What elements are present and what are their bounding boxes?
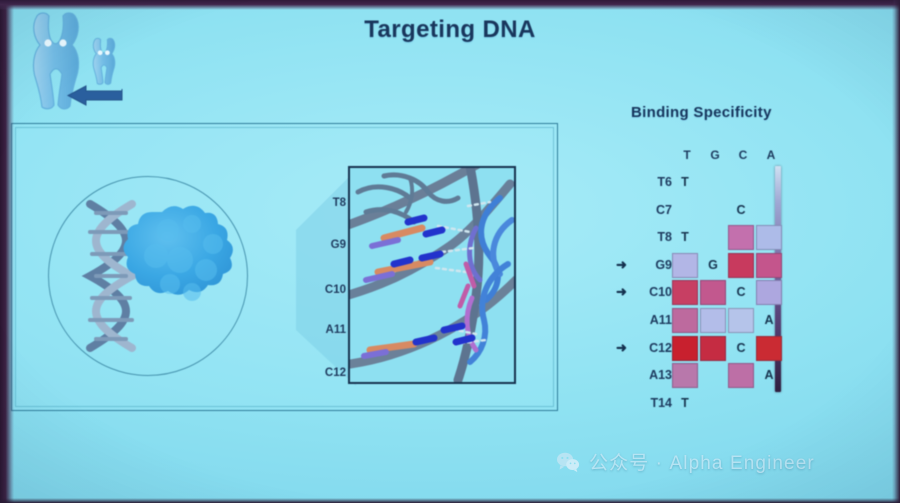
- heatmap-row-label: T8: [632, 230, 672, 244]
- heatmap-row-arrow: ➜: [616, 285, 627, 298]
- heatmap-row-label: C10: [632, 285, 672, 299]
- page-title: Targeting DNA: [0, 16, 900, 44]
- photo-edge-right: [892, 0, 900, 503]
- slide-photo: Targeting DNA: [0, 0, 900, 503]
- heatmap-row-label: A11: [632, 313, 672, 327]
- heatmap-cell: [700, 308, 726, 333]
- heatmap-row-label: A13: [632, 368, 672, 382]
- heatmap-cell: [756, 336, 782, 361]
- structure-label: T8: [333, 197, 346, 209]
- heatmap-cell: [700, 336, 726, 361]
- structure-label: G9: [331, 239, 346, 251]
- heatmap-cell: [728, 225, 754, 250]
- heatmap-col-header-c: C: [730, 148, 756, 162]
- heatmap-native-base-letter: A: [756, 308, 782, 333]
- heatmap-col-header-a: A: [758, 148, 784, 162]
- heatmap-cell: [728, 308, 754, 333]
- chromosome-small-icon: [93, 38, 115, 84]
- heatmap-cell: [672, 280, 698, 305]
- heatmap-cell: [756, 253, 782, 278]
- watermark-text: 公众号 · Alpha Engineer: [589, 448, 815, 475]
- heatmap-cell: [672, 363, 698, 388]
- heatmap-row-arrow: ➜: [616, 258, 627, 271]
- structure-label: A11: [326, 324, 346, 336]
- heatmap-native-base-letter: T: [672, 225, 698, 250]
- heatmap-cell: [756, 280, 782, 305]
- structure-label: C12: [325, 367, 346, 379]
- photo-edge-top: [0, 0, 900, 10]
- heatmap-native-base-letter: C: [728, 336, 754, 361]
- binding-heatmap: T G C A T6TC7CT8T➜G9G➜C10CA11A➜C12CA13AT…: [622, 148, 822, 410]
- structure-label: C10: [325, 284, 346, 296]
- heatmap-row-label: C7: [632, 203, 672, 217]
- heatmap-cell: [672, 336, 698, 361]
- heatmap-cell: [728, 363, 754, 388]
- heatmap-row-label: G9: [632, 258, 672, 272]
- molecular-structure-image: [348, 166, 516, 384]
- photo-edge-bottom: [0, 498, 900, 503]
- left-arrow-icon: [68, 86, 122, 105]
- heatmap-cell: [672, 253, 698, 278]
- heatmap-col-header-g: G: [702, 148, 728, 162]
- heatmap-cell: [756, 225, 782, 250]
- heatmap-row-arrow: ➜: [616, 341, 627, 354]
- heatmap-cell: [672, 308, 698, 333]
- heatmap-cell: [700, 280, 726, 305]
- heatmap-cell: [728, 253, 754, 278]
- heatmap-native-base-letter: A: [756, 363, 782, 388]
- photo-edge-left: [0, 0, 14, 503]
- watermark: 公众号 · Alpha Engineer: [556, 448, 815, 475]
- heatmap-row-label: T14: [632, 396, 672, 410]
- heatmap-col-header-t: T: [674, 148, 700, 162]
- heatmap-row-label: C12: [632, 341, 672, 355]
- binding-specificity-title: Binding Specificity: [631, 104, 772, 121]
- heatmap-row-label: T6: [632, 175, 672, 189]
- heatmap-native-base-letter: T: [672, 170, 698, 195]
- heatmap-native-base-letter: C: [728, 198, 754, 223]
- wechat-icon: [556, 451, 580, 473]
- heatmap-native-base-letter: T: [672, 391, 698, 416]
- protein-blob-icon: [118, 198, 248, 318]
- heatmap-native-base-letter: C: [728, 280, 754, 305]
- structure-label-column: T8 G9 C10 A11 C12: [312, 166, 346, 384]
- heatmap-native-base-letter: G: [700, 253, 726, 278]
